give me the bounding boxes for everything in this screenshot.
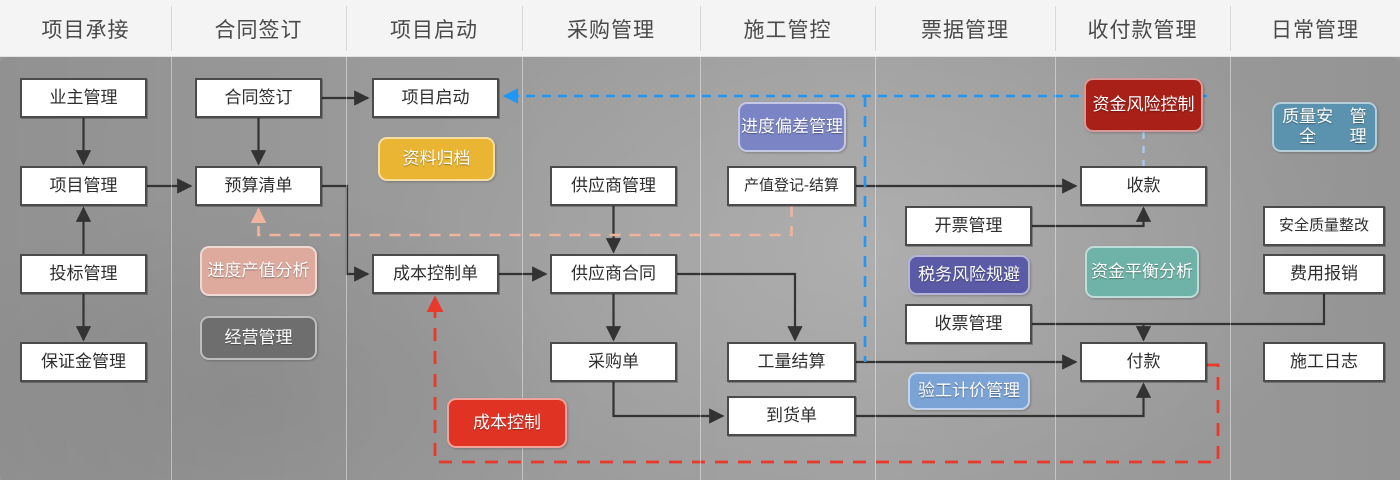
node-rectify[interactable]: 安全质量整改 xyxy=(1263,206,1385,246)
node-project[interactable]: 项目管理 xyxy=(20,166,147,206)
node-bid[interactable]: 投标管理 xyxy=(20,254,147,294)
node-taxrisk[interactable]: 税务风险规避 xyxy=(908,255,1030,295)
node-costsheet[interactable]: 成本控制单 xyxy=(372,254,499,294)
column-separator xyxy=(1230,57,1231,480)
node-invoiceout[interactable]: 开票管理 xyxy=(905,206,1032,246)
header-separator xyxy=(171,6,172,51)
phase-header-3: 项目启动 xyxy=(346,0,522,57)
phase-header-4: 采购管理 xyxy=(522,0,700,57)
phase-header-8: 日常管理 xyxy=(1230,0,1400,57)
node-supplier[interactable]: 供应商管理 xyxy=(550,166,677,206)
node-budget[interactable]: 预算清单 xyxy=(195,166,322,206)
node-invoicein[interactable]: 收票管理 xyxy=(905,304,1032,344)
header-separator xyxy=(700,6,701,51)
node-costctrl[interactable]: 成本控制 xyxy=(447,398,567,448)
node-quantity[interactable]: 工量结算 xyxy=(727,342,856,382)
header-separator xyxy=(522,6,523,51)
node-fundbal[interactable]: 资金平衡分析 xyxy=(1085,246,1199,298)
node-output[interactable]: 产值登记-结算 xyxy=(727,166,856,206)
column-separator xyxy=(700,57,701,480)
column-separator xyxy=(346,57,347,480)
node-kickoff[interactable]: 项目启动 xyxy=(372,78,499,118)
header-separator xyxy=(875,6,876,51)
node-owner[interactable]: 业主管理 xyxy=(20,78,147,118)
node-supcontract[interactable]: 供应商合同 xyxy=(550,254,677,294)
header-separator xyxy=(1055,6,1056,51)
node-purchase[interactable]: 采购单 xyxy=(550,342,677,382)
column-separator xyxy=(875,57,876,480)
node-deposit[interactable]: 保证金管理 xyxy=(20,342,147,382)
node-operation[interactable]: 经营管理 xyxy=(200,316,317,360)
column-separator xyxy=(1055,57,1056,480)
node-archive[interactable]: 资料归档 xyxy=(378,137,495,181)
node-arrival[interactable]: 到货单 xyxy=(727,396,856,436)
phase-header-7: 收付款管理 xyxy=(1055,0,1230,57)
column-separator xyxy=(171,57,172,480)
node-fundrisk[interactable]: 资金风险控制 xyxy=(1084,78,1203,132)
phase-header-5: 施工管控 xyxy=(700,0,875,57)
node-payment[interactable]: 付款 xyxy=(1080,342,1207,382)
node-qualitysafe[interactable]: 质量安全管理 xyxy=(1272,102,1377,152)
phase-header-6: 票据管理 xyxy=(875,0,1055,57)
diagram-canvas: 业主管理项目管理投标管理保证金管理合同签订预算清单进度产值分析经营管理项目启动资… xyxy=(0,57,1400,480)
node-worklog[interactable]: 施工日志 xyxy=(1263,342,1385,382)
header-separator xyxy=(346,6,347,51)
node-deviation[interactable]: 进度偏差管理 xyxy=(738,102,846,152)
node-expense[interactable]: 费用报销 xyxy=(1263,254,1385,294)
phase-header-2: 合同签订 xyxy=(171,0,346,57)
node-valuation[interactable]: 验工计价管理 xyxy=(908,372,1030,410)
phase-header-bar: 项目承接合同签订项目启动采购管理施工管控票据管理收付款管理日常管理 xyxy=(0,0,1400,57)
phase-header-1: 项目承接 xyxy=(0,0,171,57)
flowchart-diagram: 项目承接合同签订项目启动采购管理施工管控票据管理收付款管理日常管理 xyxy=(0,0,1400,480)
node-receipt[interactable]: 收款 xyxy=(1080,166,1207,206)
node-contract[interactable]: 合同签订 xyxy=(195,78,322,118)
header-separator xyxy=(1230,6,1231,51)
node-progval[interactable]: 进度产值分析 xyxy=(200,246,317,296)
